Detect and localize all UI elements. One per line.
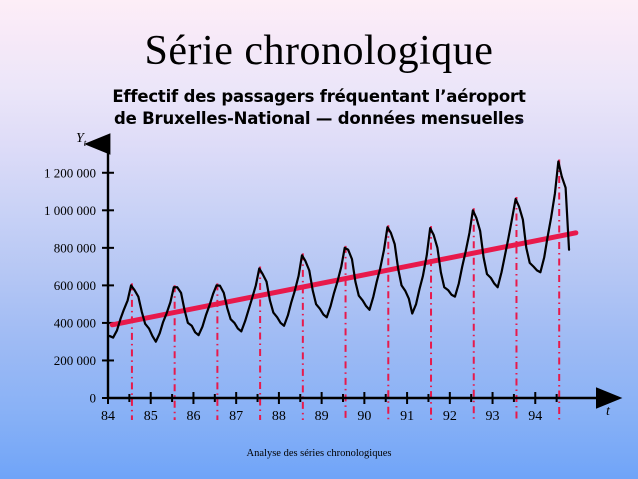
- x-axis-tick-label: 88: [272, 409, 286, 424]
- y-axis-tick-label: 0: [90, 391, 97, 406]
- y-axis-tick-label: 600 000: [54, 278, 96, 293]
- chart-subtitle-line-1: Effectif des passagers fréquentant l’aér…: [112, 87, 525, 106]
- page-title: Série chronologique: [0, 28, 638, 74]
- y-axis-label-subscript: t: [84, 138, 87, 148]
- x-axis-label: t: [606, 404, 611, 419]
- annual-marker-lines: [132, 160, 559, 420]
- stray-dot-artifact: [519, 120, 523, 123]
- x-axis-tick-label: 93: [486, 409, 500, 424]
- x-axis-tick-labels: 8485868788899091929394: [101, 409, 542, 424]
- y-axis: 0200 000400 000600 000800 0001 000 0001 …: [44, 131, 114, 406]
- x-axis-tick-label: 86: [186, 409, 200, 424]
- x-axis-tick-label: 85: [144, 409, 158, 424]
- y-axis-ticks: 0200 000400 000600 000800 0001 000 0001 …: [44, 165, 114, 405]
- y-axis-tick-label: 200 000: [54, 353, 96, 368]
- x-axis-tick-label: 92: [443, 409, 457, 424]
- x-axis-tick-label: 84: [101, 409, 115, 424]
- y-axis-tick-label: 1 000 000: [44, 203, 96, 218]
- y-axis-tick-label: 800 000: [54, 240, 96, 255]
- x-axis-tick-label: 91: [400, 409, 414, 424]
- y-axis-label: Yt: [76, 131, 87, 148]
- x-axis: 8485868788899091929394 t: [101, 392, 611, 424]
- slide: Série chronologique Effectif des passage…: [0, 0, 638, 479]
- chart-subtitle: Effectif des passagers fréquentant l’aér…: [0, 86, 638, 130]
- x-axis-tick-label: 89: [315, 409, 329, 424]
- x-axis-tick-label: 90: [357, 409, 371, 424]
- time-series-chart: 0200 000400 000600 000800 0001 000 0001 …: [0, 130, 638, 430]
- chart-subtitle-line-2: de Bruxelles-National — données mensuell…: [0, 108, 638, 130]
- y-axis-tick-label: 400 000: [54, 315, 96, 330]
- y-axis-tick-label: 1 200 000: [44, 165, 96, 180]
- x-axis-tick-label: 94: [528, 409, 542, 424]
- series-line-passengers: [110, 162, 569, 342]
- slide-footer: Analyse des séries chronologiques: [0, 448, 638, 459]
- x-axis-tick-label: 87: [229, 409, 243, 424]
